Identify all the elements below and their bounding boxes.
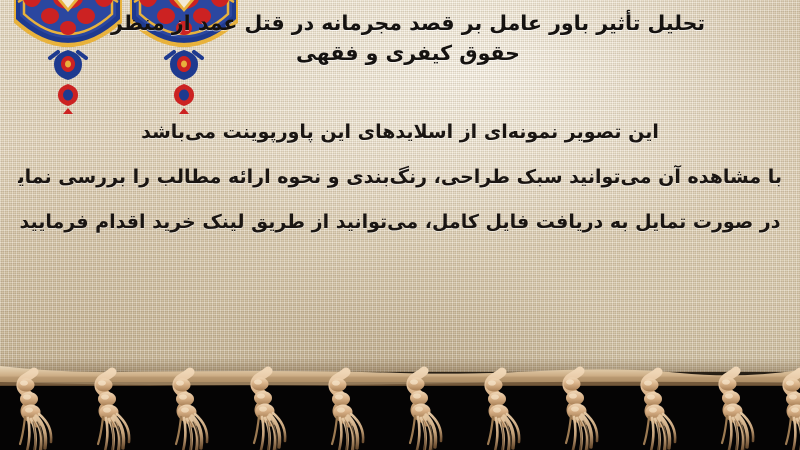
- slide-title: تحلیل تأثیر باور عامل بر قصد مجرمانه در …: [16, 8, 786, 68]
- slide-title-line-2: حقوق کیفری و فقهی: [30, 38, 786, 68]
- bottom-black-band: [0, 372, 800, 450]
- body-line-1: این تصویر نمونه‌ای از اسلایدهای این پاور…: [18, 110, 782, 155]
- body-line-3: در صورت تمایل به دریافت فایل کامل، می‌تو…: [18, 200, 782, 245]
- slide-title-line-1: تحلیل تأثیر باور عامل بر قصد مجرمانه در …: [30, 8, 786, 38]
- presentation-slide: تحلیل تأثیر باور عامل بر قصد مجرمانه در …: [0, 0, 800, 450]
- slide-text-area: تحلیل تأثیر باور عامل بر قصد مجرمانه در …: [0, 0, 800, 379]
- body-line-2: با مشاهده آن می‌توانید سبک طراحی، رنگ‌بن…: [18, 155, 782, 200]
- slide-body: این تصویر نمونه‌ای از اسلایدهای این پاور…: [0, 110, 800, 245]
